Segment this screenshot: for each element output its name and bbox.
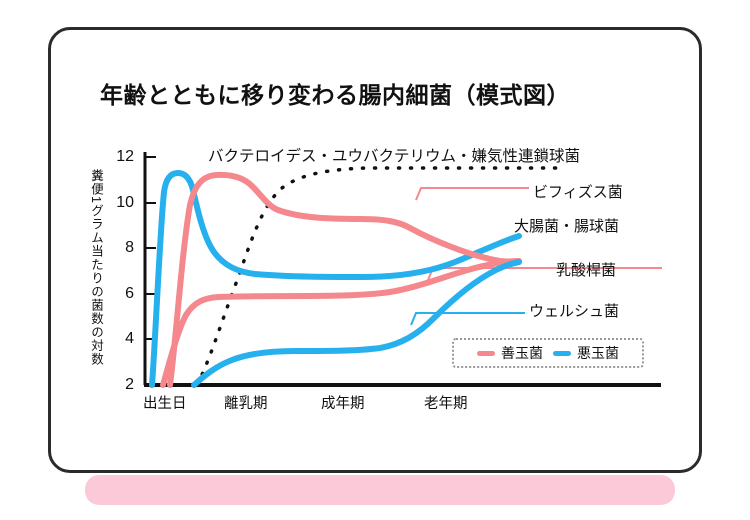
legend-item-good: 善玉菌 (477, 343, 543, 363)
x-tick-birth: 出生日 (143, 392, 187, 413)
anaerobes-curve-label: バクテロイデス・ユウバクテリウム・嫌気性連鎖球菌 (208, 144, 580, 166)
legend-swatch-bad (553, 351, 571, 356)
y-tick-10: 10 (108, 194, 134, 212)
y-tick-8: 8 (108, 239, 134, 257)
leader-line-bifidus (416, 188, 529, 200)
page-title: 年齢とともに移り変わる腸内細菌（模式図） (100, 76, 570, 110)
x-tick-old-age: 老年期 (424, 392, 468, 413)
series-label-bifidus: ビフィズス菌 (533, 181, 623, 202)
legend-item-bad: 悪玉菌 (553, 343, 619, 363)
y-tick-12: 12 (108, 148, 134, 166)
legend-swatch-good (477, 351, 495, 356)
series-label-coli: 大腸菌・腸球菌 (514, 215, 619, 236)
legend-label-good: 善玉菌 (501, 343, 543, 363)
chart-figure: 年齢とともに移り変わる腸内細菌（模式図） 糞便1グラム当たりの菌数の対数 12 … (0, 0, 750, 520)
y-axis-caption: 糞便1グラム当たりの菌数の対数 (85, 148, 103, 386)
y-tick-6: 6 (108, 285, 134, 303)
legend: 善玉菌 悪玉菌 (452, 338, 644, 368)
y-tick-4: 4 (108, 330, 134, 348)
legend-label-bad: 悪玉菌 (577, 343, 619, 363)
series-label-welch: ウェルシュ菌 (529, 300, 619, 321)
x-tick-adulthood: 成年期 (321, 392, 365, 413)
x-tick-weaning: 離乳期 (224, 392, 268, 413)
y-tick-2: 2 (108, 376, 134, 394)
series-label-lacto: 乳酸桿菌 (556, 259, 616, 280)
